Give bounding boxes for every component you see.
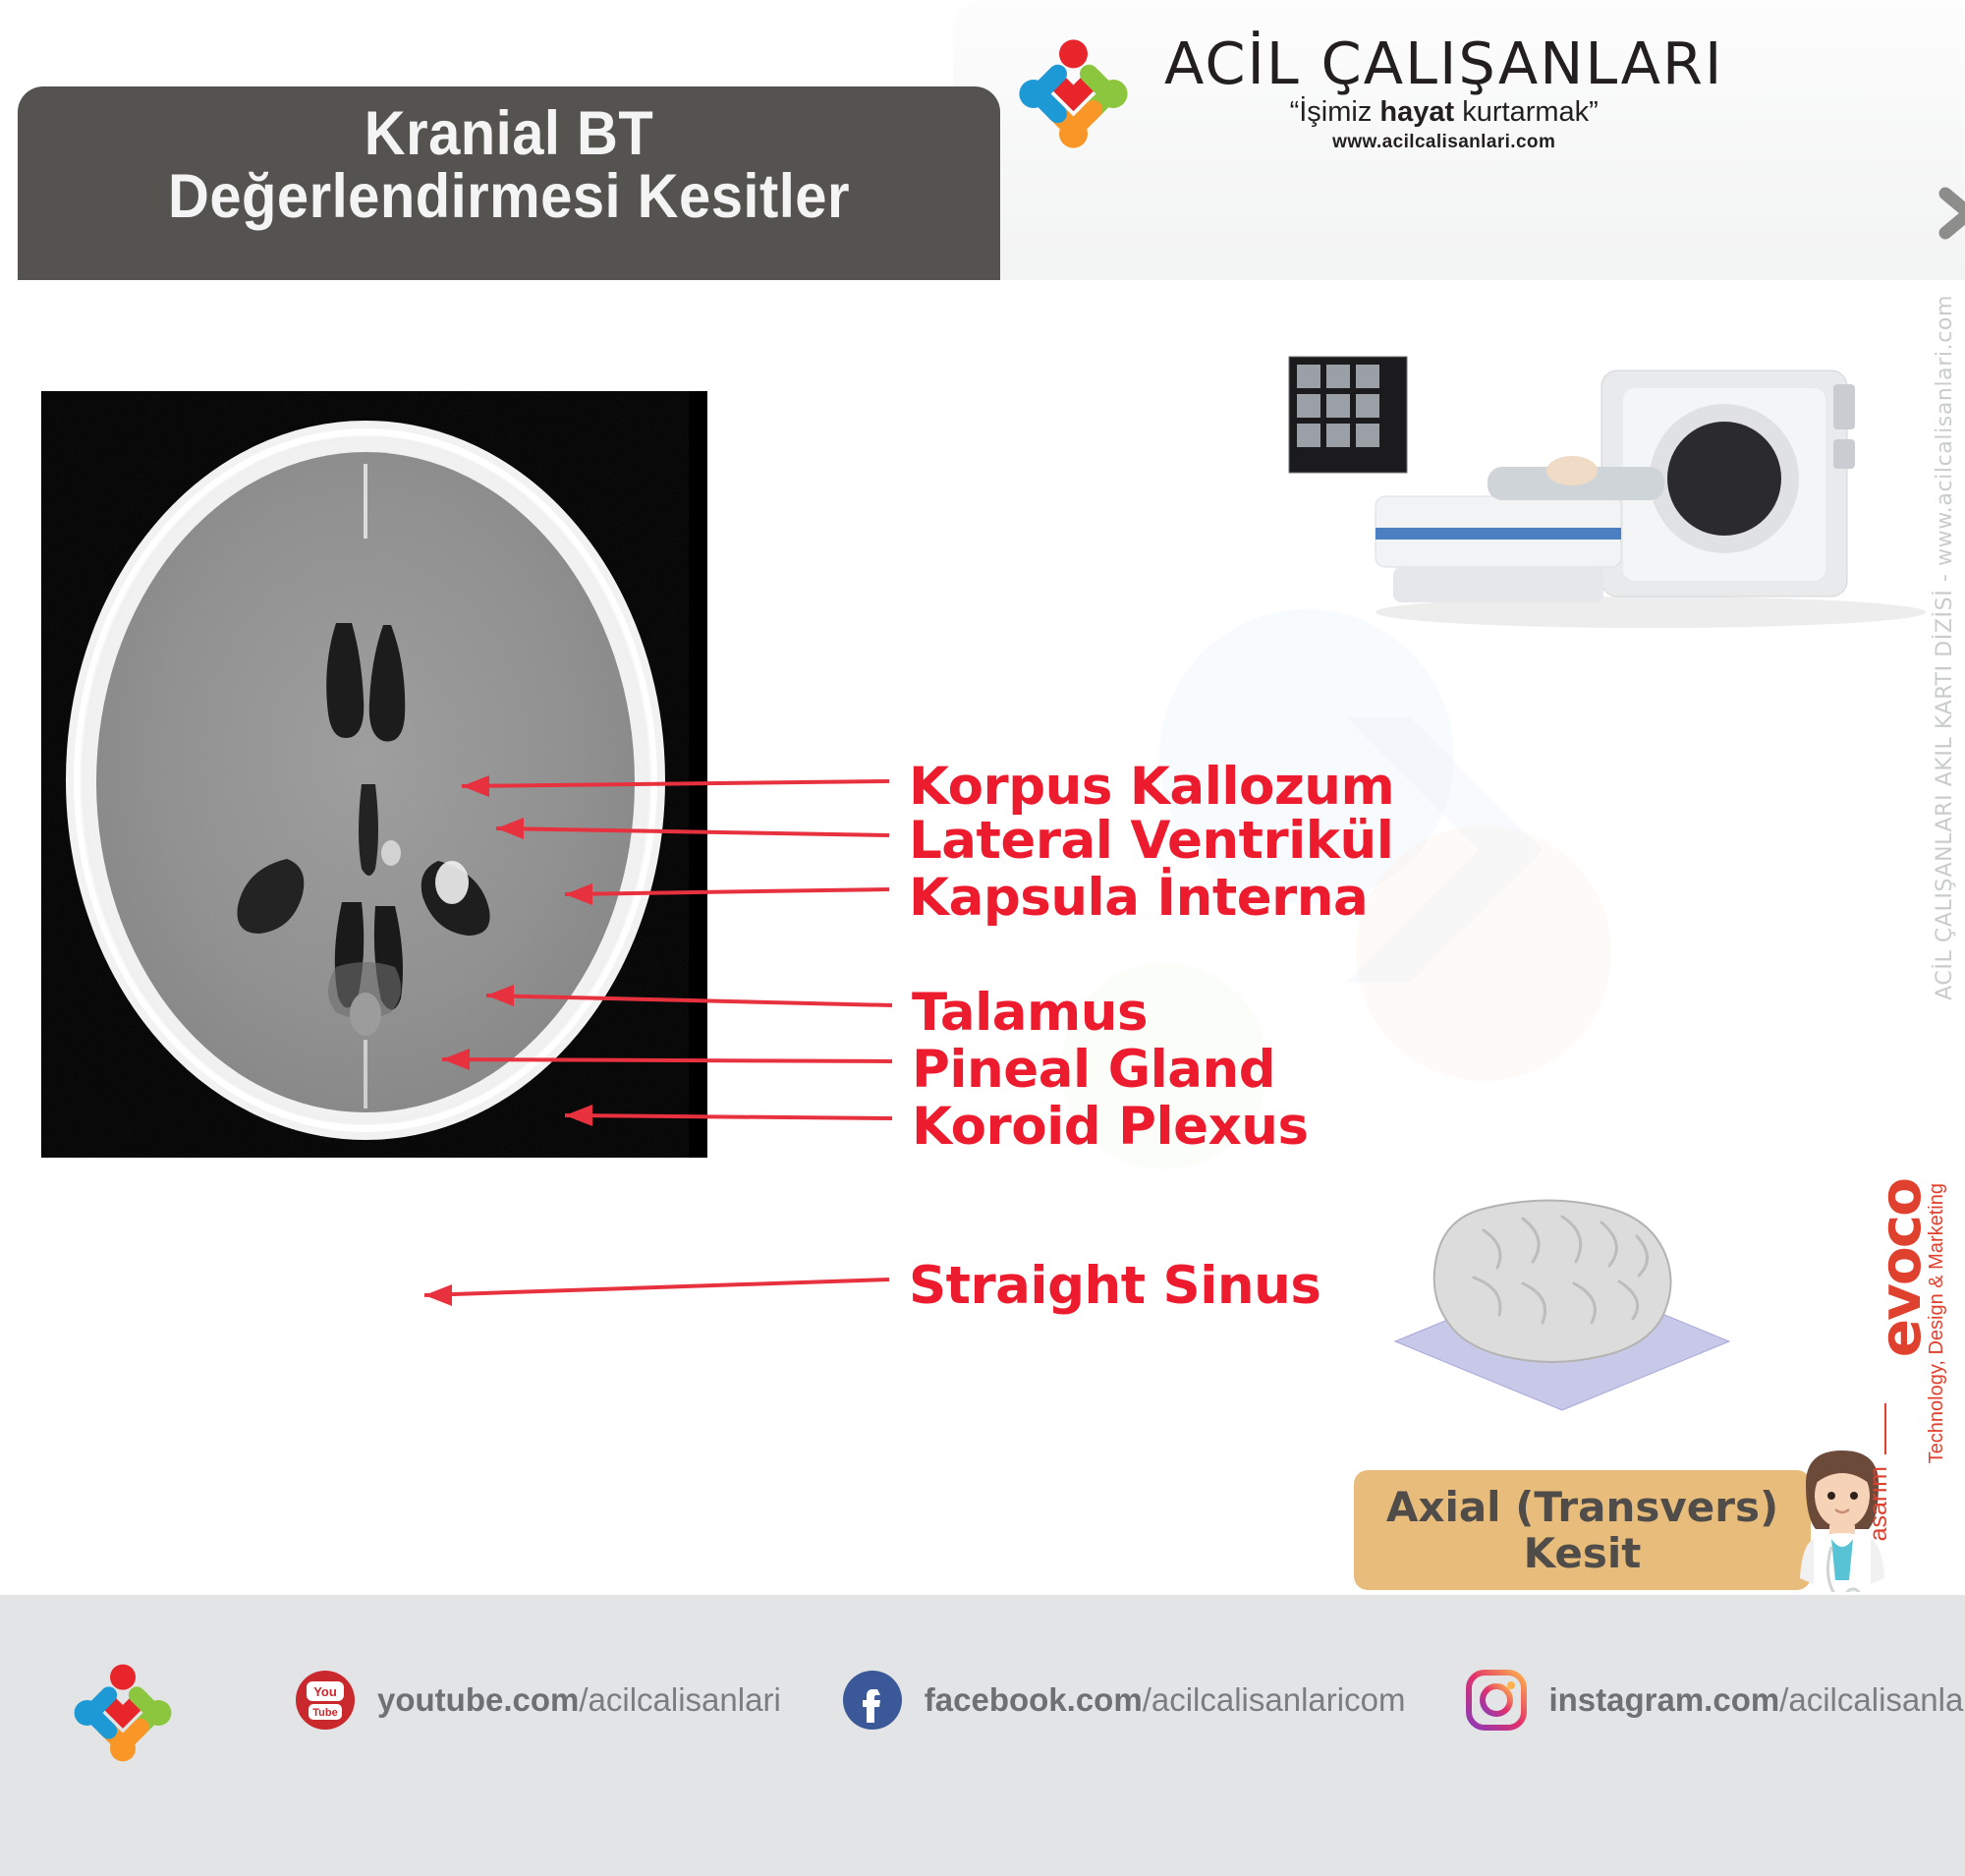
social-text-youtube: youtube.com/acilcalisanlari xyxy=(377,1681,781,1719)
social-handle-instagram: /acilcalisanlari xyxy=(1779,1681,1965,1718)
tasarim-credit: asarım t xyxy=(1865,1466,1893,1541)
tasarim-word: asarım xyxy=(1865,1466,1893,1541)
brand-slogan-bold: hayat xyxy=(1379,96,1454,128)
page-title-line1: Kranial BT xyxy=(57,86,961,165)
footer-logo-icon xyxy=(59,1649,187,1777)
brand-url: www.acilcalisanlari.com xyxy=(1164,132,1723,153)
social-links: You Tube youtube.com/acilcalisanlari fac… xyxy=(295,1670,1965,1731)
svg-text:You: You xyxy=(313,1684,337,1699)
brand-name: ACİL ÇALIŞANLARI xyxy=(1164,34,1723,92)
section-breadcrumb: Radyoloji xyxy=(1936,180,1965,247)
series-vertical-text: ACİL ÇALIŞANLARI AKIL KARTI DİZİSİ - www… xyxy=(1933,295,1957,1000)
evoco-credit: evoco Technology, Design & Marketing asa… xyxy=(1845,1150,1963,1563)
slice-type-line1: Axial (Transvers) xyxy=(1386,1484,1778,1530)
acil-calisanlari-logo-icon xyxy=(1002,23,1145,165)
slice-type-line2: Kesit xyxy=(1524,1530,1642,1576)
brain-plane-diagram xyxy=(1366,1140,1759,1445)
ct-slice-image xyxy=(41,391,707,1158)
label-korpus-kallozum: Korpus Kallozum xyxy=(909,757,1394,817)
evoco-divider xyxy=(1884,1403,1886,1454)
label-pineal-gland: Pineal Gland xyxy=(912,1040,1275,1100)
svg-text:Tube: Tube xyxy=(312,1707,337,1719)
label-lateral-ventrikul: Lateral Ventrikül xyxy=(909,811,1393,871)
youtube-icon: You Tube xyxy=(295,1670,356,1731)
social-link-youtube[interactable]: You Tube youtube.com/acilcalisanlari xyxy=(295,1670,781,1731)
brand-words: ACİL ÇALIŞANLARI “İşimiz hayat kurtarmak… xyxy=(1164,34,1723,152)
label-koroid-plexus: Koroid Plexus xyxy=(912,1097,1309,1157)
infographic-page: ACİL ÇALIŞANLARI “İşimiz hayat kurtarmak… xyxy=(0,0,1965,1876)
brand-slogan-post: kurtarmak” xyxy=(1454,96,1599,128)
ct-slice-render xyxy=(41,391,707,1158)
brand-lockup: ACİL ÇALIŞANLARI “İşimiz hayat kurtarmak… xyxy=(1002,18,1926,170)
facebook-icon xyxy=(842,1670,903,1731)
brand-slogan-pre: “İşimiz xyxy=(1290,96,1380,128)
label-straight-sinus: Straight Sinus xyxy=(909,1256,1320,1316)
social-link-instagram[interactable]: instagram.com/acilcalisanlari xyxy=(1466,1670,1965,1731)
social-link-facebook[interactable]: facebook.com/acilcalisanlaricom xyxy=(842,1670,1406,1731)
header: ACİL ÇALIŞANLARI “İşimiz hayat kurtarmak… xyxy=(0,0,1965,280)
social-text-facebook: facebook.com/acilcalisanlaricom xyxy=(925,1681,1406,1719)
watermark-circle-orange xyxy=(1356,825,1611,1081)
chevron-right-icon xyxy=(1936,186,1965,241)
label-kapsula-interna: Kapsula İnterna xyxy=(909,868,1368,928)
evoco-tagline: Technology, Design & Marketing xyxy=(1926,1183,1948,1463)
social-handle-facebook: /acilcalisanlaricom xyxy=(1143,1681,1406,1718)
social-handle-youtube: /acilcalisanlari xyxy=(579,1681,780,1718)
instagram-icon xyxy=(1466,1670,1527,1731)
social-domain-facebook: facebook.com xyxy=(925,1681,1143,1718)
social-domain-instagram: instagram.com xyxy=(1548,1681,1779,1718)
evoco-name: evoco xyxy=(1867,1179,1934,1357)
page-title-line2: Değerlendirmesi Kesitler xyxy=(57,165,961,228)
label-talamus: Talamus xyxy=(912,983,1148,1043)
social-domain-youtube: youtube.com xyxy=(377,1681,579,1718)
brand-card: ACİL ÇALIŞANLARI “İşimiz hayat kurtarmak… xyxy=(953,0,1965,280)
title-banner: Kranial BT Değerlendirmesi Kesitler xyxy=(18,86,1000,280)
slice-type-chip: Axial (Transvers) Kesit xyxy=(1354,1470,1811,1590)
footer: You Tube youtube.com/acilcalisanlari fac… xyxy=(0,1592,1965,1876)
brand-slogan: “İşimiz hayat kurtarmak” xyxy=(1164,96,1723,129)
ct-scanner-photo xyxy=(1277,349,1926,634)
social-text-instagram: instagram.com/acilcalisanlari xyxy=(1548,1681,1965,1719)
